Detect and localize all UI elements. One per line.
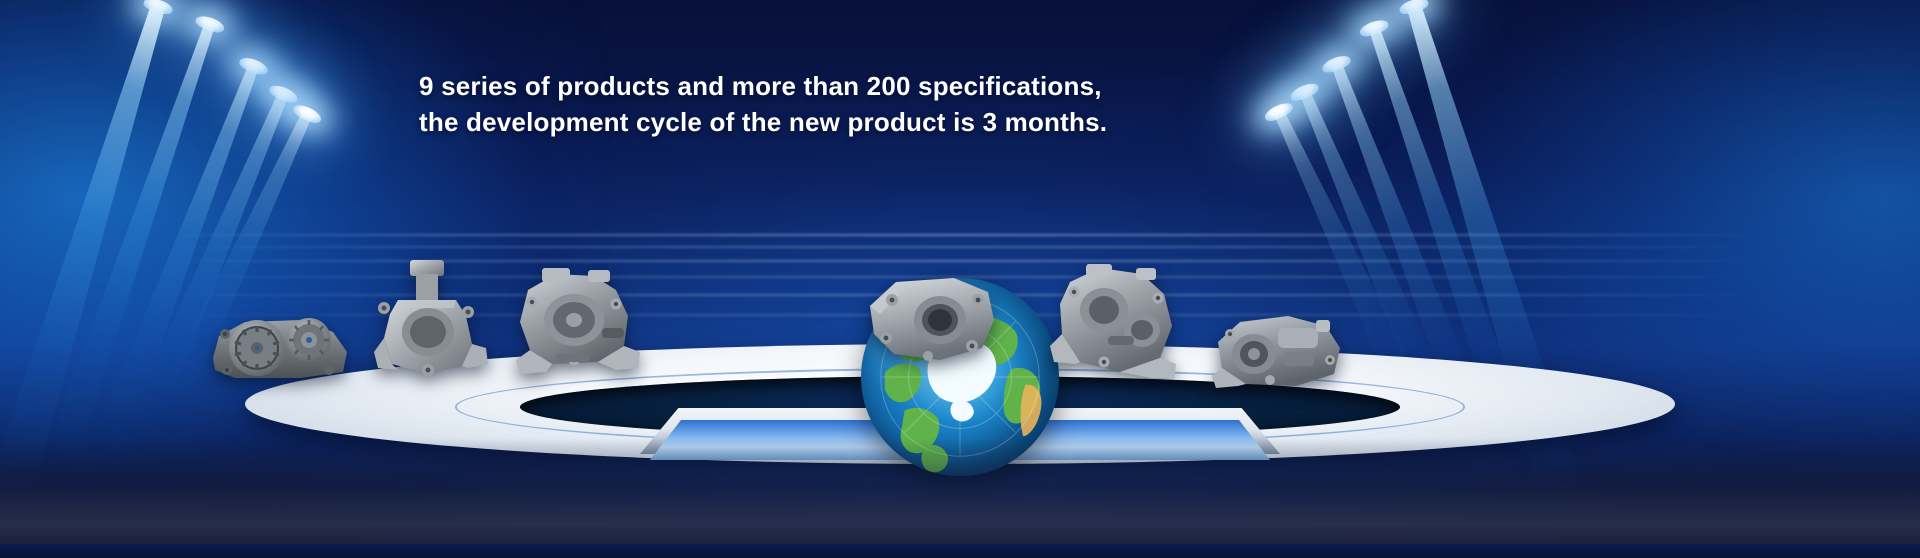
- headline-line-2: the development cycle of the new product…: [419, 104, 1107, 140]
- headline-line-1: 9 series of products and more than 200 s…: [419, 68, 1107, 104]
- product-vacuum-pump-module: [1212, 312, 1346, 392]
- product-engine-oil-pump: [512, 268, 644, 380]
- product-timing-cover-plate: [866, 276, 998, 364]
- foreground-shadow: [0, 438, 1920, 558]
- bottom-strip: [0, 544, 1920, 558]
- product-alloy-pump-assembly: [1048, 264, 1182, 382]
- product-gear-oil-pump: [205, 300, 355, 382]
- product-water-pump-housing: [368, 258, 493, 384]
- headline: 9 series of products and more than 200 s…: [419, 68, 1107, 140]
- promo-banner: 9 series of products and more than 200 s…: [0, 0, 1920, 558]
